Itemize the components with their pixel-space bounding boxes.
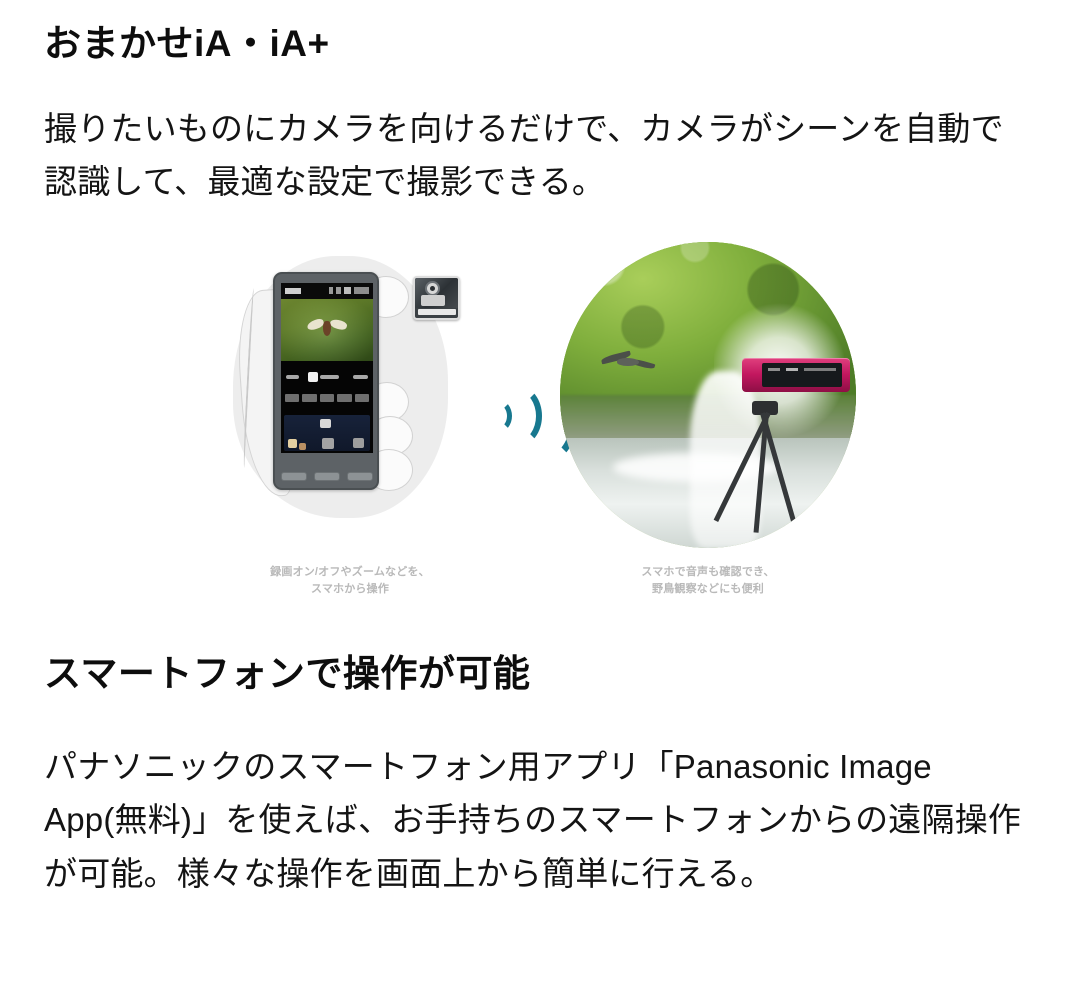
control-icon-4	[337, 394, 351, 402]
tripod	[718, 401, 838, 533]
section-1-paragraph-wrap: 撮りたいものにカメラを向けるだけで、カメラがシーンを自動で認識して、最適な設定で…	[0, 102, 1080, 209]
compact-camera-screen	[762, 363, 842, 387]
illustration-remote-shooting: 録画オン/オフやズームなどを、 スマホから操作 スマホで音声も確認でき、 野鳥観…	[0, 236, 1080, 626]
control-pill-2	[320, 375, 339, 379]
page-title-ia: おまかせiA・iA+	[44, 22, 1036, 66]
status-bar	[281, 283, 373, 299]
control-icon-grid	[285, 394, 369, 402]
control-pill-1	[286, 375, 299, 379]
page-title-smartphone-control: スマートフォンで操作が可能	[44, 652, 1036, 696]
control-knob-2	[288, 439, 297, 448]
section-1-heading-wrap: おまかせiA・iA+	[0, 22, 1080, 66]
smartphone-device	[273, 272, 379, 490]
section-1-body-text: 撮りたいものにカメラを向けるだけで、カメラがシーンを自動で認識して、最適な設定で…	[44, 102, 1036, 209]
section-2-heading-wrap: スマートフォンで操作が可能	[0, 652, 1080, 696]
photo-camera-on-tripod	[560, 242, 856, 548]
control-icon-3	[320, 394, 334, 402]
control-knob-3	[299, 443, 306, 450]
control-square-handle	[308, 372, 318, 382]
smartphone-in-hand-illustration	[225, 244, 475, 544]
control-knob-1	[320, 419, 331, 428]
caption-left-line-1: 録画オン/オフやズームなどを、	[225, 564, 475, 581]
caption-right-line-1: スマホで音声も確認でき、	[560, 564, 856, 581]
smartphone-hardware-keys	[281, 472, 373, 481]
control-slider-row	[281, 375, 373, 387]
app-control-panel	[281, 361, 373, 453]
caption-left: 録画オン/オフやズームなどを、 スマホから操作	[225, 564, 475, 598]
caption-left-line-2: スマホから操作	[225, 581, 475, 598]
camera-thumbnail-body	[421, 295, 445, 306]
flying-bird	[601, 352, 657, 378]
wifi-waves-icon	[484, 362, 558, 458]
section-2-paragraph-wrap: パナソニックのスマートフォン用アプリ「Panasonic Image App(無…	[0, 740, 1080, 900]
control-icon-2	[302, 394, 316, 402]
camera-thumbnail-bar	[418, 309, 456, 315]
control-icon-5	[355, 394, 369, 402]
control-knob-5	[353, 438, 364, 448]
bird-body	[323, 321, 331, 336]
control-knob-4	[322, 438, 334, 449]
control-pill-3	[353, 375, 368, 379]
camera-lens-icon	[427, 283, 438, 294]
smartphone-screen	[281, 283, 373, 453]
hardware-key-menu	[347, 472, 373, 481]
live-view-preview	[281, 299, 373, 361]
hardware-key-back	[281, 472, 307, 481]
camera-thumbnail-icon	[413, 276, 460, 320]
caption-right: スマホで音声も確認でき、 野鳥観察などにも便利	[560, 564, 856, 598]
bird-icon	[307, 318, 347, 338]
page-root: おまかせiA・iA+ 撮りたいものにカメラを向けるだけで、カメラがシーンを自動で…	[0, 0, 1080, 1007]
section-2-body-text: パナソニックのスマートフォン用アプリ「Panasonic Image App(無…	[44, 740, 1036, 900]
caption-right-line-2: 野鳥観察などにも便利	[560, 581, 856, 598]
compact-camera	[742, 358, 850, 392]
hardware-key-home	[314, 472, 340, 481]
control-lower-panel	[284, 415, 370, 451]
control-icon-1	[285, 394, 299, 402]
bird-wing-right	[329, 317, 348, 331]
